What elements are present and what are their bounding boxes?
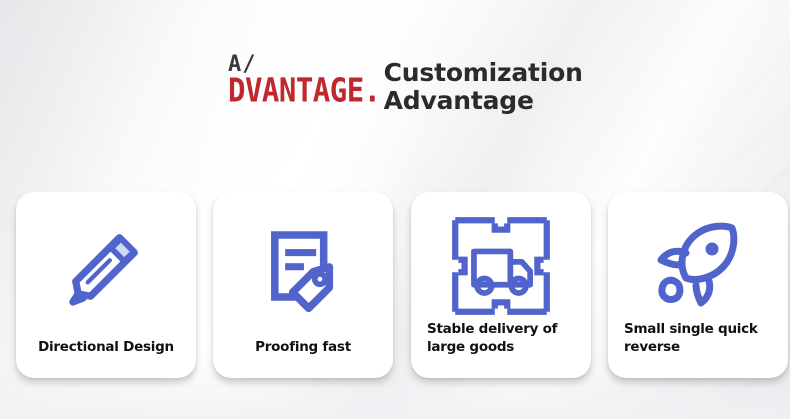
rocket-icon [648, 216, 748, 316]
card-label: Directional Design [30, 339, 182, 356]
card-label: Small single quick reverse [624, 321, 774, 356]
pencil-icon [58, 218, 154, 314]
card-icon-wrapper [608, 214, 788, 318]
page-title: Customization Advantage [384, 52, 583, 115]
feature-card-stable-delivery[interactable]: Stable delivery of large goods [411, 192, 591, 378]
feature-card-directional-design[interactable]: Directional Design [16, 192, 196, 378]
logo-bottom-text: DVANTAGE. [228, 75, 381, 107]
pencil-eraser [111, 239, 134, 262]
card-label: Stable delivery of large goods [427, 321, 577, 356]
document-tag-icon [256, 219, 350, 313]
card-icon-wrapper [16, 214, 196, 318]
rocket-window [706, 243, 719, 256]
truck-in-frame-icon [449, 214, 553, 318]
promo-banner: A/ DVANTAGE. Customization Advantage Dir… [0, 0, 790, 419]
feature-card-proofing-fast[interactable]: Proofing fast [213, 192, 393, 378]
page-title-line-1: Customization [384, 59, 583, 87]
card-label: Proofing fast [227, 339, 379, 356]
page-title-line-2: Advantage [384, 87, 583, 115]
feature-card-small-single-quick[interactable]: Small single quick reverse [608, 192, 788, 378]
advantage-logo: A/ DVANTAGE. [228, 52, 381, 107]
banner-heading: A/ DVANTAGE. Customization Advantage [228, 52, 583, 115]
card-icon-wrapper [213, 214, 393, 318]
card-icon-wrapper [411, 214, 591, 318]
